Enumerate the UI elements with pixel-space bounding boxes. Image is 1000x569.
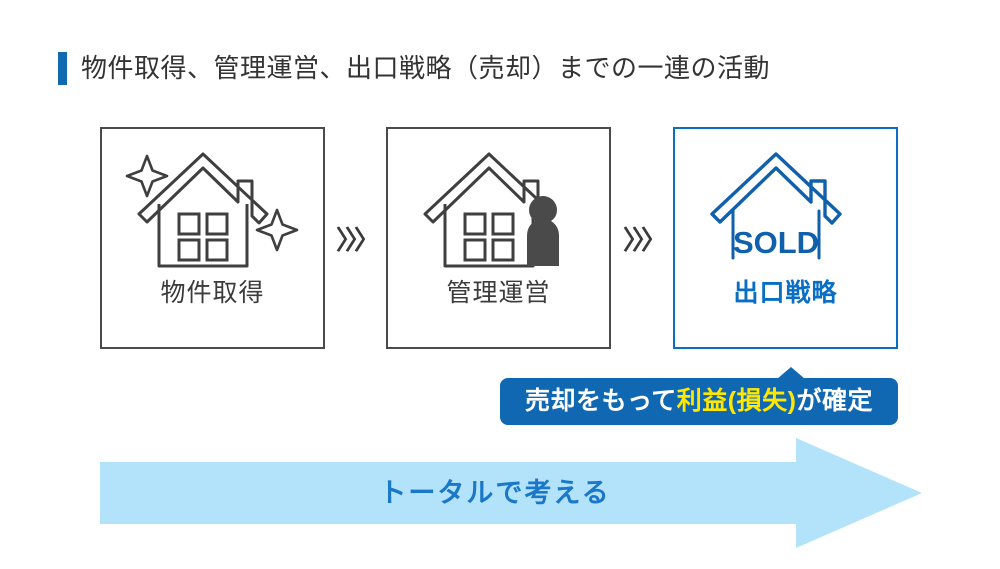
stage-card-management[interactable]: 管理運営 xyxy=(386,127,611,349)
page-title: 物件取得、管理運営、出口戦略（売却）までの一連の活動 xyxy=(58,48,770,88)
arrow-shape-icon xyxy=(100,438,922,548)
title-accent-bar xyxy=(58,52,67,85)
sold-text: SOLD xyxy=(733,225,819,260)
profit-loss-banner: 売却をもって利益(損失)が確定 xyxy=(500,378,898,425)
stage-card-label: 管理運営 xyxy=(446,281,550,306)
stage-card-acquisition[interactable]: 物件取得 xyxy=(100,127,325,349)
chevron-right-triple-icon: 〉〉〉 xyxy=(336,228,376,254)
roof-sold-icon: SOLD xyxy=(698,145,873,275)
banner-text: 売却をもって利益(損失)が確定 xyxy=(525,389,873,414)
total-arrow: トータルで考える xyxy=(100,438,922,548)
stage-card-exit-strategy[interactable]: SOLD 出口戦略 xyxy=(673,127,898,349)
stage-card-label: 物件取得 xyxy=(160,281,264,306)
house-person-icon xyxy=(411,145,586,275)
banner-text-after: が確定 xyxy=(796,387,873,415)
banner-text-before: 売却をもって xyxy=(525,387,677,415)
stage-card-label: 出口戦略 xyxy=(733,281,837,306)
page-title-text: 物件取得、管理運営、出口戦略（売却）までの一連の活動 xyxy=(81,55,770,81)
chevron-right-triple-icon: 〉〉〉 xyxy=(623,228,663,254)
banner-text-highlight: 利益(損失) xyxy=(677,387,797,415)
house-sparkle-icon xyxy=(125,145,300,275)
